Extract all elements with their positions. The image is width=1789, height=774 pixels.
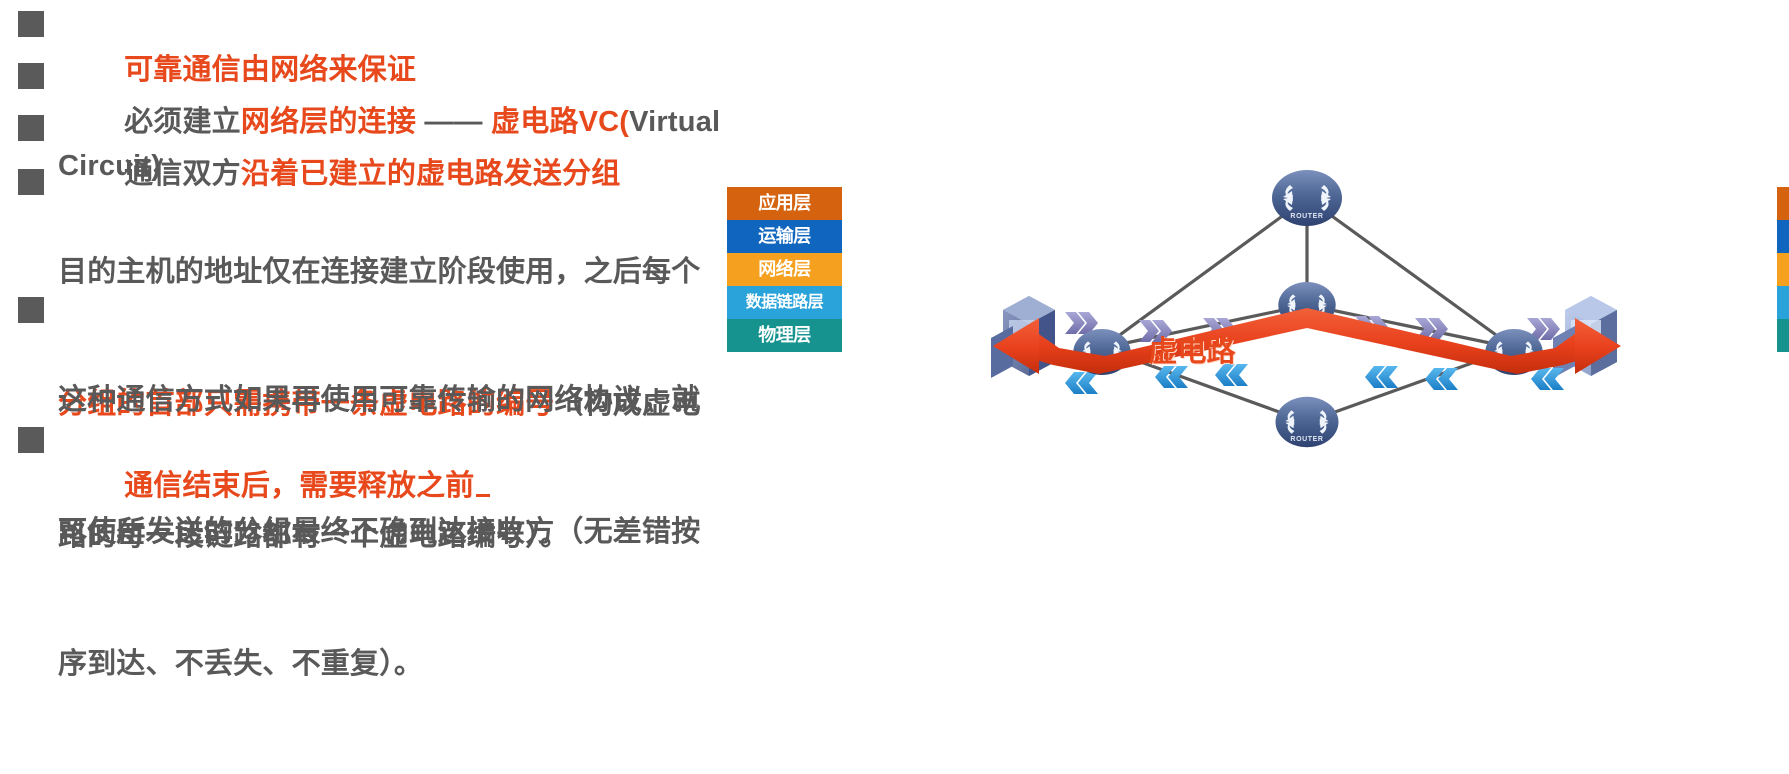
bullet-marker-icon <box>18 11 44 37</box>
stack-left-layer-datalink: 数据链路层 <box>727 286 842 319</box>
router-label: ROUTER <box>1290 436 1323 443</box>
router-label: ROUTER <box>1290 213 1323 220</box>
network-diagram: 应用层 运输层 网络层 数据链路层 物理层 应用层 运输层 网络层 数据链路层 … <box>830 160 1789 460</box>
router-top: ROUTER <box>1272 170 1342 226</box>
bullet-marker-icon <box>18 169 44 195</box>
stack-left-layer-transport: 运输层 <box>727 220 842 253</box>
protocol-stack-right: 应用层 运输层 网络层 数据链路层 物理层 <box>1776 186 1789 353</box>
network-topology-svg: ROUTER ROUTER ROUTER ROUTER ROUTER <box>830 160 1789 460</box>
bullet-marker-icon <box>18 115 44 141</box>
bullet-marker-icon <box>18 297 44 323</box>
slide-canvas: 可靠通信由网络来保证 必须建立网络层的连接 —— 虚电路VC(Virtual C… <box>0 0 1789 576</box>
stack-left-layer-physical: 物理层 <box>727 319 842 352</box>
protocol-stack-left: 应用层 运输层 网络层 数据链路层 物理层 <box>726 186 843 353</box>
stack-left-layer-application: 应用层 <box>727 187 842 220</box>
stack-right-layer-transport: 运输层 <box>1777 220 1789 253</box>
stack-right-layer-physical: 物理层 <box>1777 319 1789 352</box>
router-bottom: ROUTER <box>1276 397 1339 447</box>
stack-right-layer-datalink: 数据链路层 <box>1777 286 1789 319</box>
stack-left-layer-network: 网络层 <box>727 253 842 286</box>
packet-backward <box>1425 368 1458 390</box>
bullet-text-6: 通信结束后，需要释放之前 <box>58 420 830 552</box>
bullet-marker-icon <box>18 427 44 453</box>
text-cursor <box>476 494 490 497</box>
packet-backward <box>1365 366 1398 388</box>
bullet-marker-icon <box>18 63 44 89</box>
stack-right-layer-application: 应用层 <box>1777 187 1789 220</box>
stack-right-layer-network: 网络层 <box>1777 253 1789 286</box>
bullet-item-6: 通信结束后，需要释放之前 <box>0 420 830 552</box>
virtual-circuit-label: 虚电路 <box>1122 328 1262 370</box>
packet-backward <box>1065 372 1098 394</box>
packet-backward <box>1531 368 1564 390</box>
bullet-list: 可靠通信由网络来保证 必须建立网络层的连接 —— 虚电路VC(Virtual C… <box>0 0 830 576</box>
